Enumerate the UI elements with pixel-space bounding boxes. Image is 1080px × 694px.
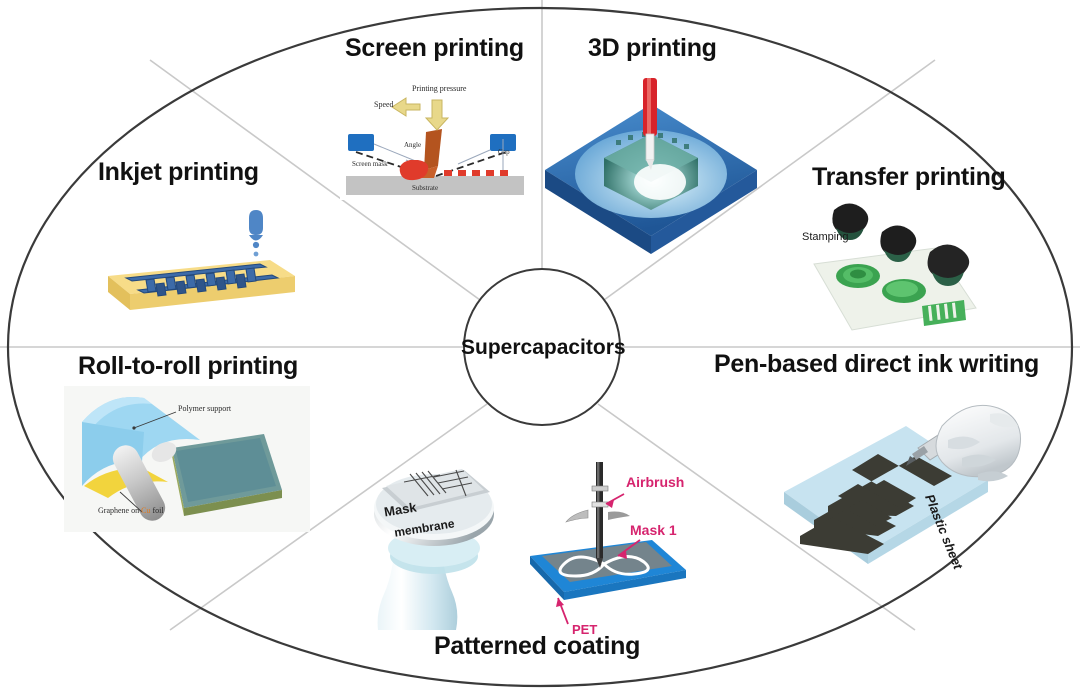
mask-1-label: Mask 1 [630, 522, 677, 538]
sector-label-pen-based-direct-ink-writing: Pen-based direct ink writing [714, 350, 1039, 379]
roll-graphene-label: Graphene on Cu foil [98, 506, 164, 515]
mask-anchor-left [348, 134, 374, 151]
pen-writing-illustration [766, 396, 1024, 578]
roll-polymer-support-label: Polymer support [178, 404, 231, 413]
screen-printing-angle-label: Angle [404, 141, 421, 149]
sector-label-inkjet-printing: Inkjet printing [98, 158, 259, 187]
airbrush-label: Airbrush [626, 474, 684, 490]
sector-label-patterned-coating: Patterned coating [434, 632, 640, 661]
screen-printing-mask-label: Screen mask [352, 160, 388, 168]
screen-printing-speed-label: Speed [374, 100, 394, 109]
patterned-coating-filter-illustration [344, 452, 524, 630]
screen-printing-gap-label: Gap [498, 148, 510, 156]
sector-label-screen-printing: Screen printing [345, 34, 524, 63]
figure-canvas: Printing pressure Speed Angle Screen mas… [0, 0, 1080, 694]
transfer-printing-illustration [786, 196, 1016, 336]
sector-label-roll-to-roll-printing: Roll-to-roll printing [78, 352, 298, 381]
screen-printing-substrate-label: Substrate [412, 184, 438, 192]
inkjet-printing-illustration [60, 198, 310, 333]
three-d-printing-illustration [538, 78, 764, 282]
center-label-supercapacitors: Supercapacitors [461, 336, 626, 360]
screen-printing-illustration [340, 82, 530, 200]
sector-label-transfer-printing: Transfer printing [812, 163, 1006, 192]
transfer-stamping-label: Stamping [802, 231, 848, 243]
screen-printing-pressure-label: Printing pressure [412, 84, 466, 93]
sector-label-3d-printing: 3D printing [588, 34, 717, 63]
ink-droplet-group [249, 210, 263, 256]
